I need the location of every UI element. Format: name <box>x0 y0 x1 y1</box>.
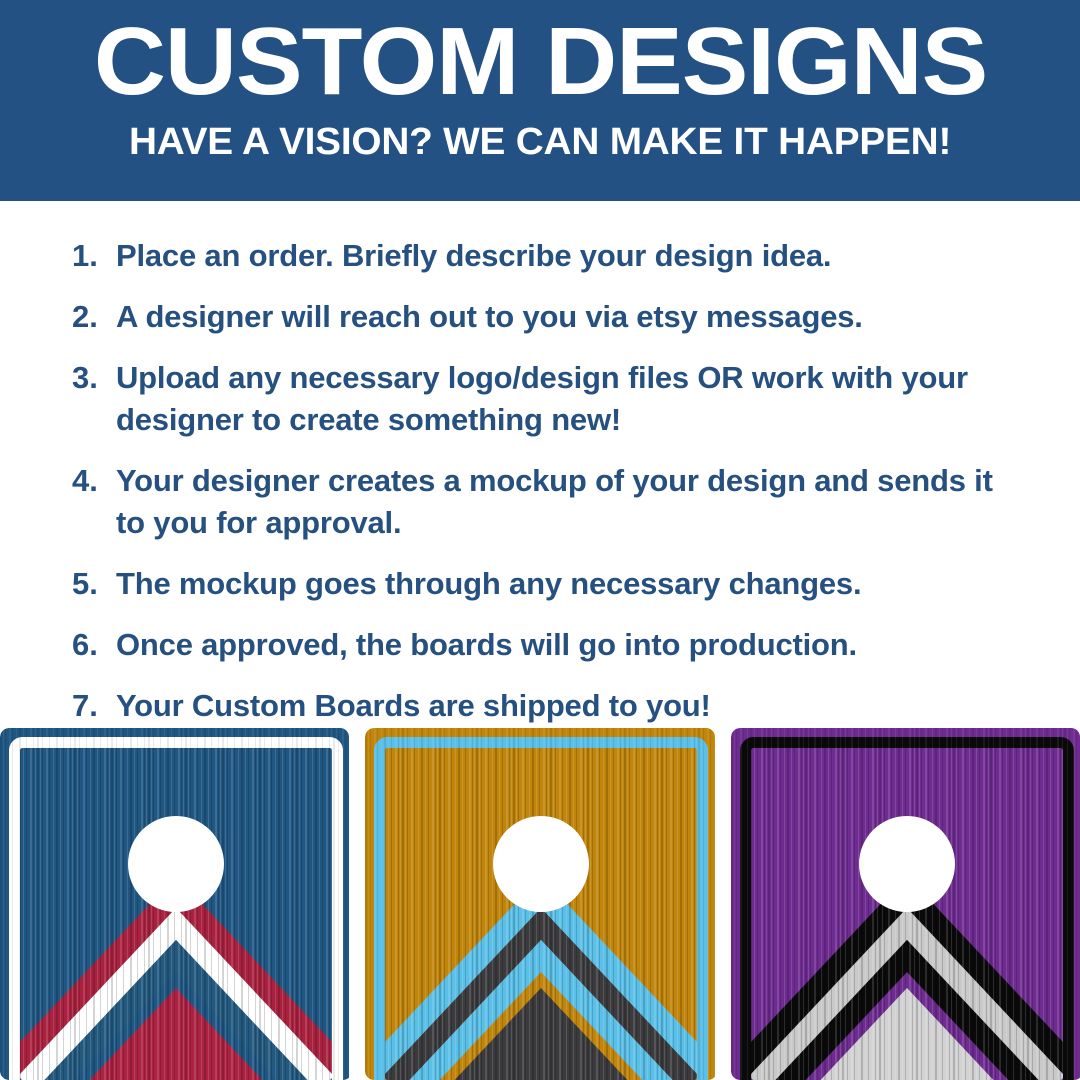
orange-blue-cornhole-board-graphic <box>365 728 714 1080</box>
step-number: 2. <box>72 296 116 338</box>
header-banner: CUSTOM DESIGNS HAVE A VISION? WE CAN MAK… <box>0 0 1080 201</box>
list-item: 1. Place an order. Briefly describe your… <box>72 235 1022 277</box>
blue-red-cornhole-board-graphic <box>0 728 349 1080</box>
step-text: Your Custom Boards are shipped to you! <box>116 685 1022 727</box>
step-number: 7. <box>72 685 116 727</box>
step-number: 5. <box>72 563 116 605</box>
step-text: The mockup goes through any necessary ch… <box>116 563 1022 605</box>
step-text: Place an order. Briefly describe your de… <box>116 235 1022 277</box>
custom-designs-infographic: CUSTOM DESIGNS HAVE A VISION? WE CAN MAK… <box>0 0 1080 1080</box>
list-item: 6. Once approved, the boards will go int… <box>72 624 1022 666</box>
step-number: 3. <box>72 357 116 399</box>
cornhole-hole <box>859 816 955 912</box>
step-text: A designer will reach out to you via ets… <box>116 296 1022 338</box>
page-subtitle: HAVE A VISION? WE CAN MAKE IT HAPPEN! <box>129 123 951 161</box>
step-number: 1. <box>72 235 116 277</box>
blue-red-cornhole-board[interactable] <box>0 728 349 1080</box>
orange-blue-cornhole-board[interactable] <box>365 728 714 1080</box>
step-number: 4. <box>72 460 116 502</box>
cornhole-hole <box>128 816 224 912</box>
list-item: 2. A designer will reach out to you via … <box>72 296 1022 338</box>
cornhole-hole <box>493 816 589 912</box>
step-text: Your designer creates a mockup of your d… <box>116 460 1022 544</box>
list-item: 4. Your designer creates a mockup of you… <box>72 460 1022 544</box>
step-text: Upload any necessary logo/design files O… <box>116 357 1022 441</box>
list-item: 3. Upload any necessary logo/design file… <box>72 357 1022 441</box>
steps-list: 1. Place an order. Briefly describe your… <box>0 201 1080 728</box>
list-item: 7. Your Custom Boards are shipped to you… <box>72 685 1022 727</box>
step-number: 6. <box>72 624 116 666</box>
purple-black-cornhole-board-graphic <box>731 728 1080 1080</box>
page-title: CUSTOM DESIGNS <box>93 14 986 110</box>
purple-black-cornhole-board[interactable] <box>731 728 1080 1080</box>
step-text: Once approved, the boards will go into p… <box>116 624 1022 666</box>
board-gallery <box>0 728 1080 1080</box>
list-item: 5. The mockup goes through any necessary… <box>72 563 1022 605</box>
